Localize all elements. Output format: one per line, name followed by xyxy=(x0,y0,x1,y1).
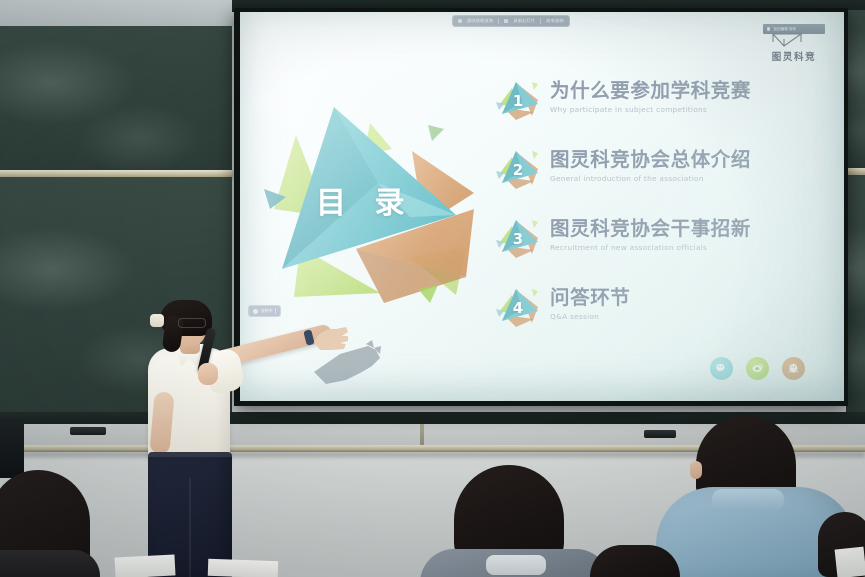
toolbar-item-0-label: 放映放映放映 xyxy=(467,18,493,24)
audience-right-ear xyxy=(690,461,702,479)
audience-member-left xyxy=(0,470,110,577)
slideshow-toolbar[interactable]: 放映放映放映 录制幻灯片 结束放映 xyxy=(452,15,570,27)
back-icon[interactable] xyxy=(767,27,770,30)
agenda-subtitle-4: Q&A session xyxy=(550,312,630,321)
agenda-title-1: 为什么要参加学科竞赛 xyxy=(550,81,751,101)
presenter-hair-clip xyxy=(150,314,164,327)
social-icon-group xyxy=(710,357,805,380)
toolbar-divider-1 xyxy=(498,18,499,24)
presenter-jeans-seam xyxy=(189,478,191,577)
toolbar-item-1-label: 录制幻灯片 xyxy=(513,18,535,24)
hand-icon xyxy=(312,324,352,354)
agenda-item-1[interactable]: 1 为什么要参加学科竞赛 Why participate in subject … xyxy=(494,78,751,124)
audience-bottom-center-hair xyxy=(590,545,680,577)
weibo-glyph-icon xyxy=(751,362,764,375)
agenda-subtitle-3: Recruitment of new association officials xyxy=(550,243,751,252)
chalkboard-right-lower xyxy=(846,175,865,420)
chalkboard-right xyxy=(846,10,865,170)
agenda-text-1: 为什么要参加学科竞赛 Why participate in subject co… xyxy=(542,78,751,114)
agenda-badge-1: 1 xyxy=(494,78,542,124)
toolbar-item-2-label: 结束放映 xyxy=(546,18,564,24)
audience-right-collar xyxy=(712,489,784,511)
agenda-item-3[interactable]: 3 图灵科竞协会干事招新 Recruitment of new associat… xyxy=(494,216,751,262)
qq-icon[interactable] xyxy=(782,357,805,380)
chalkboard-upper-left xyxy=(0,26,232,176)
agenda-text-2: 图灵科竞协会总体介绍 General introduction of the a… xyxy=(542,147,751,183)
agenda-number-4: 4 xyxy=(494,285,542,331)
audience-center-collar xyxy=(486,555,546,575)
brand-logo xyxy=(771,33,811,49)
audience-member-center xyxy=(430,465,610,577)
desk-paper-left xyxy=(114,554,175,577)
agenda-text-3: 图灵科竞协会干事招新 Recruitment of new associatio… xyxy=(542,216,751,252)
agenda-badge-2: 2 xyxy=(494,147,542,193)
notebook-right xyxy=(835,547,865,577)
agenda-number-3: 3 xyxy=(494,216,542,262)
wechat-glyph-icon xyxy=(715,362,728,375)
presenter-belt-line xyxy=(148,452,232,457)
agenda-title-3: 图灵科竞协会干事招新 xyxy=(550,219,751,239)
agenda-subtitle-1: Why participate in subject competitions xyxy=(550,105,751,114)
desk-paper-center xyxy=(208,559,279,577)
audience-left-shoulder xyxy=(0,550,100,577)
weibo-icon[interactable] xyxy=(746,357,769,380)
wechat-icon[interactable] xyxy=(710,357,733,380)
side-monitor xyxy=(0,418,24,478)
agenda-item-4[interactable]: 4 问答环节 Q&A session xyxy=(494,285,630,331)
audience-member-bottom-center xyxy=(590,545,680,577)
agenda-number-2: 2 xyxy=(494,147,542,193)
classroom-scene: 目 录 1 为什么要参加学科竞赛 xyxy=(0,0,865,577)
agenda-text-4: 问答环节 Q&A session xyxy=(542,285,630,321)
toolbar-divider-2 xyxy=(540,18,541,24)
presenter-glasses xyxy=(178,318,206,328)
play-icon[interactable] xyxy=(458,19,462,23)
brand-bar-label: 返回编辑 放映 xyxy=(773,27,796,32)
presenter xyxy=(120,300,410,577)
chalk-rail-1 xyxy=(0,170,232,177)
agenda-item-2[interactable]: 2 图灵科竞协会总体介绍 General introduction of the… xyxy=(494,147,751,193)
paper-plane-logo-icon xyxy=(771,33,811,49)
blackboard-eraser-left xyxy=(70,427,106,435)
agenda-title-4: 问答环节 xyxy=(550,288,630,308)
wall-seam-divider xyxy=(420,424,424,445)
agenda-title-2: 图灵科竞协会总体介绍 xyxy=(550,150,751,170)
chalk-rail-right xyxy=(846,168,865,175)
presenter-mic-hand xyxy=(198,363,218,385)
qq-glyph-icon xyxy=(787,362,800,375)
brand-block: 返回编辑 放映 图灵科竞 xyxy=(757,24,831,64)
agenda-subtitle-2: General introduction of the association xyxy=(550,174,751,183)
agenda-badge-3: 3 xyxy=(494,216,542,262)
presenter-hand xyxy=(312,324,352,354)
record-icon[interactable] xyxy=(504,19,508,23)
brand-name: 图灵科竞 xyxy=(757,49,831,63)
agenda-number-1: 1 xyxy=(494,78,542,124)
agenda-badge-4: 4 xyxy=(494,285,542,331)
